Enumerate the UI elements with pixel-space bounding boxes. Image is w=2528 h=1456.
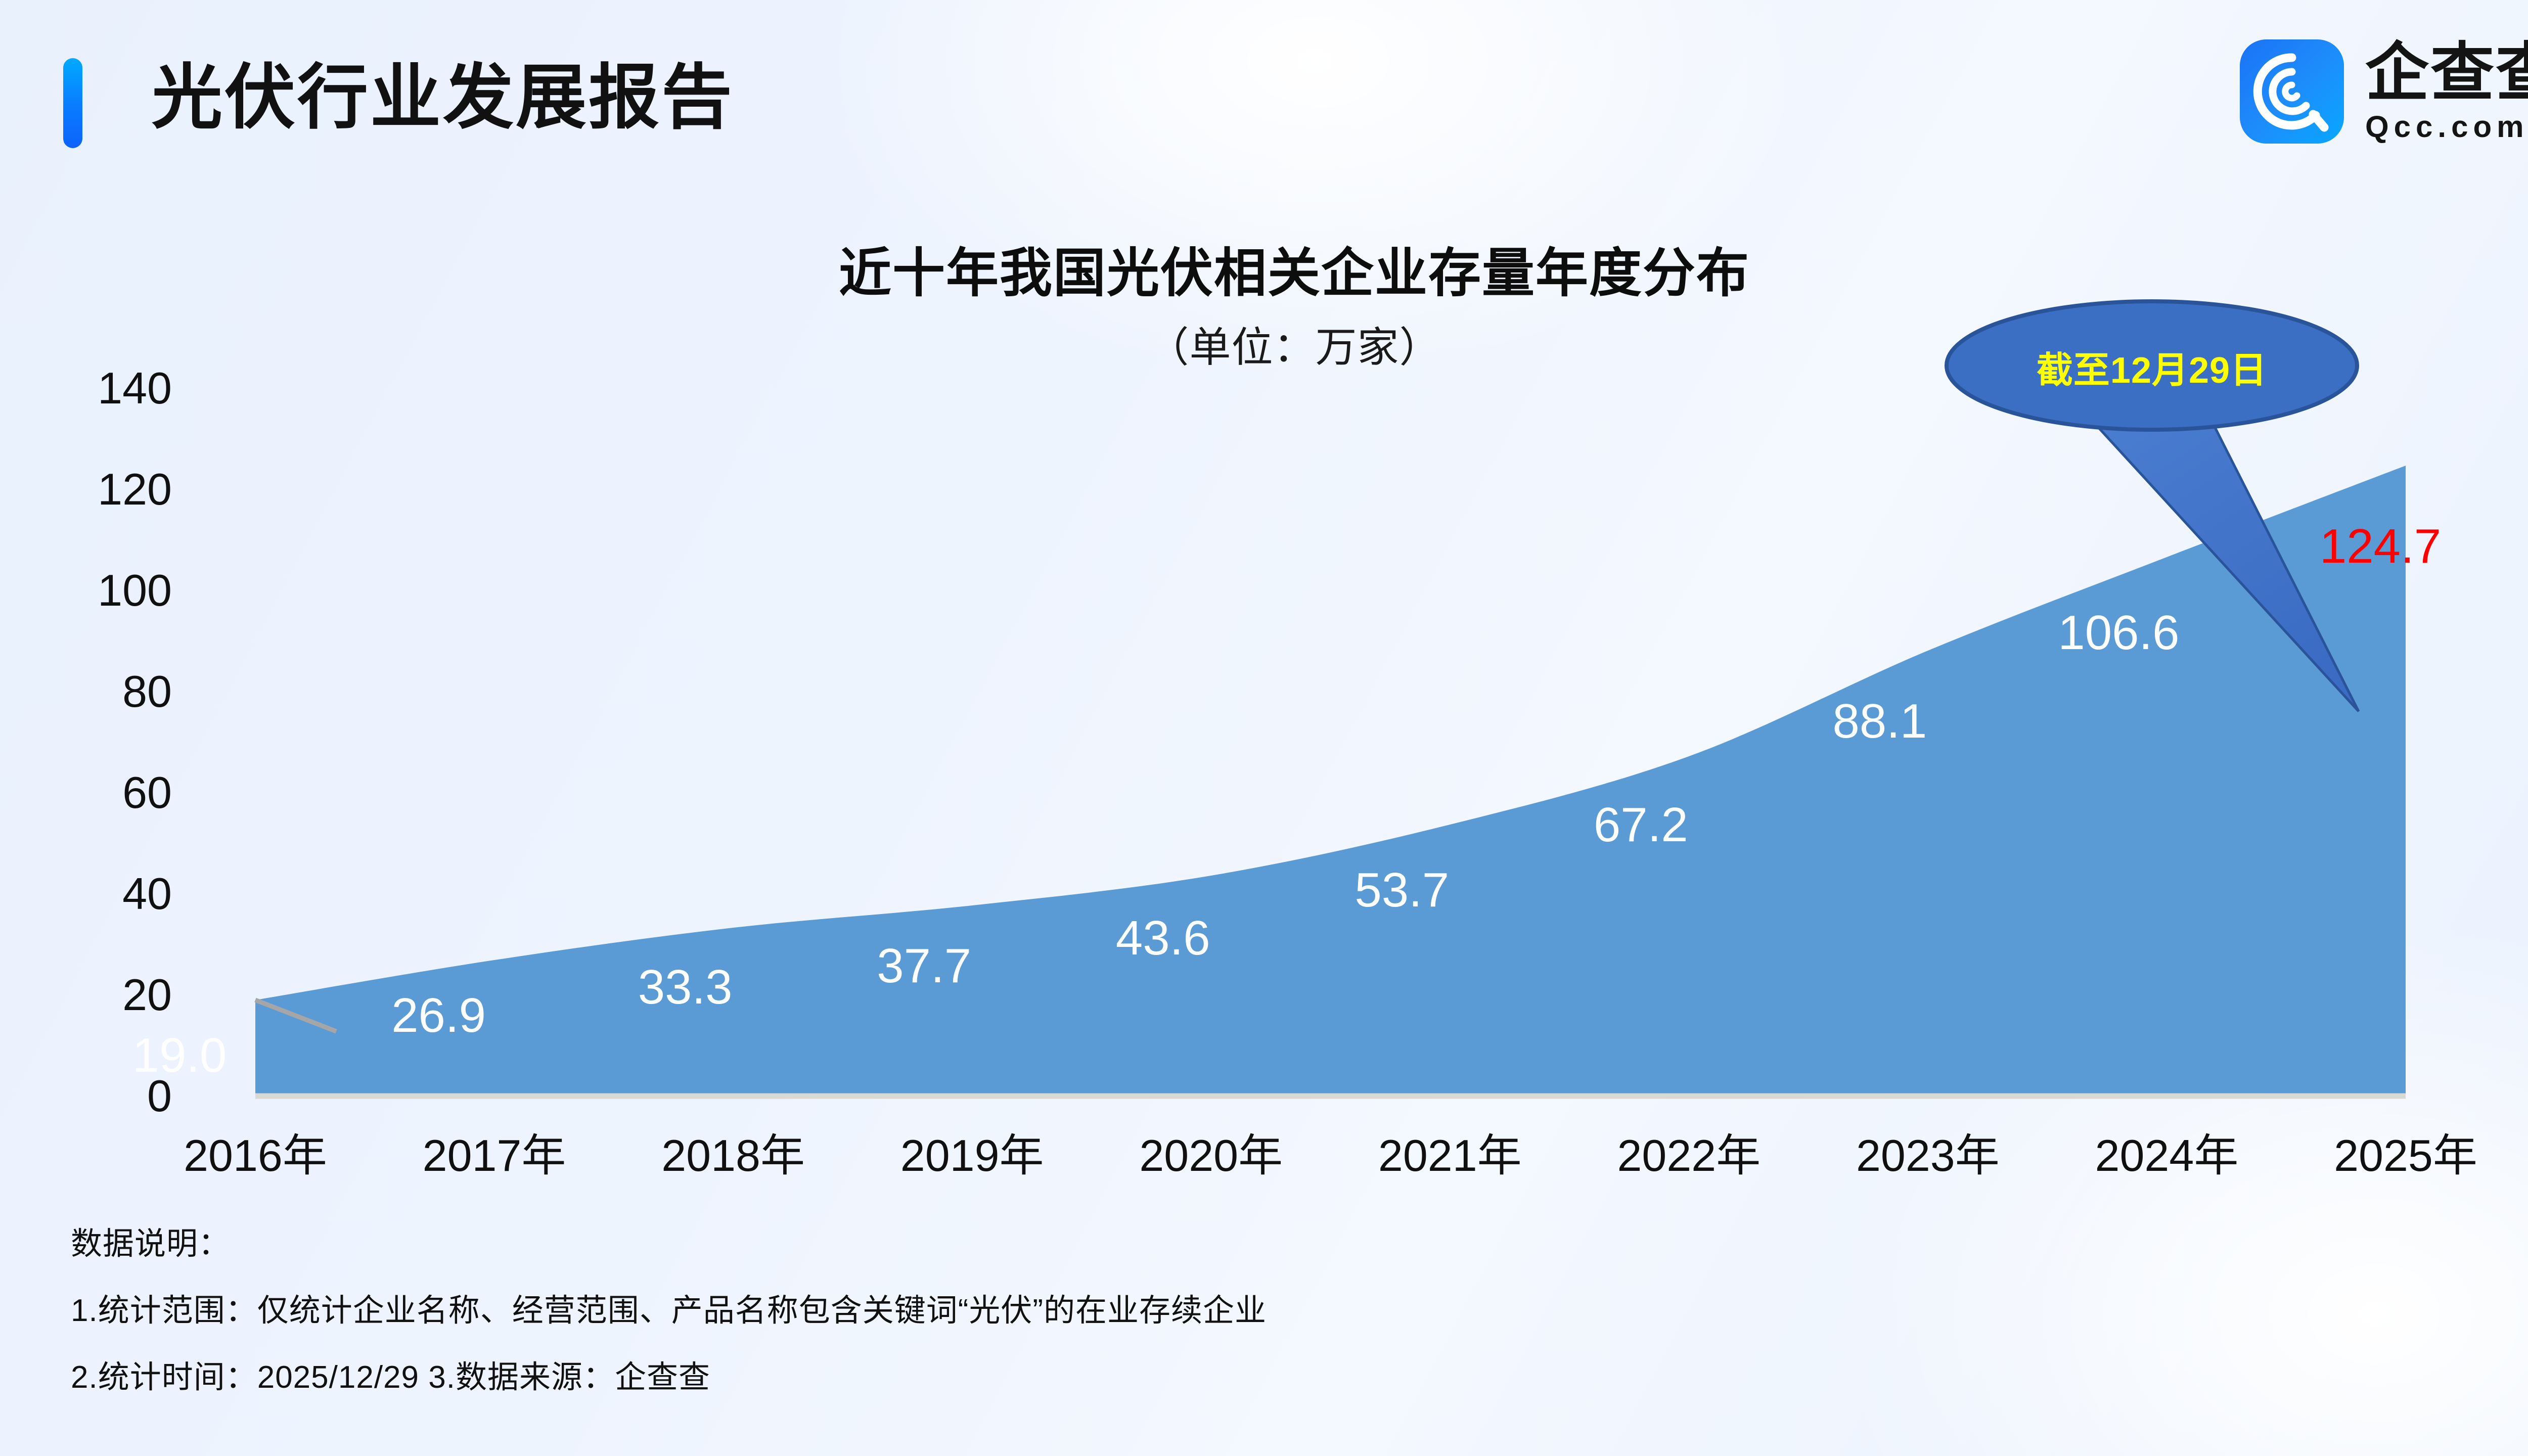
x-axis-tick-label: 2022年 xyxy=(1570,1120,1808,1184)
y-axis-tick-label: 80 xyxy=(20,666,172,717)
y-axis-tick-label: 140 xyxy=(20,362,172,414)
data-point-label: 37.7 xyxy=(805,938,1043,994)
data-point-label: 53.7 xyxy=(1283,862,1521,918)
data-point-label: 124.7 xyxy=(2262,519,2499,574)
data-point-label: 88.1 xyxy=(1761,694,1999,749)
callout-label: 截至12月29日 xyxy=(1947,340,2357,393)
data-notes: 数据说明： 1.统计范围：仅统计企业名称、经营范围、产品名称包含关键词“光伏”的… xyxy=(71,1228,2295,1429)
data-point-label: 43.6 xyxy=(1044,911,1282,966)
data-point-label: 33.3 xyxy=(566,960,804,1015)
data-point-label: 19.0 xyxy=(61,1028,298,1083)
data-point-label: 67.2 xyxy=(1522,797,1759,853)
note-item: 2.统计时间：2025/12/29 3.数据来源：企查查 xyxy=(71,1362,2295,1393)
x-axis-tick-label: 2025年 xyxy=(2287,1120,2524,1184)
x-axis-tick-label: 2023年 xyxy=(1809,1120,2047,1184)
y-axis-tick-label: 120 xyxy=(20,464,172,515)
report-canvas: 光伏行业发展报告 企查查 Qcc.com 近十年我国光伏相关企业存量年度分布 （… xyxy=(0,0,2528,1456)
notes-heading: 数据说明： xyxy=(71,1228,2295,1260)
y-axis-tick-label: 20 xyxy=(20,969,172,1021)
y-axis-tick-label: 100 xyxy=(20,565,172,616)
x-axis-tick-label: 2020年 xyxy=(1092,1120,1330,1184)
x-axis-tick-label: 2016年 xyxy=(137,1120,374,1184)
data-point-label: 26.9 xyxy=(320,988,558,1043)
x-axis-tick-label: 2017年 xyxy=(376,1120,613,1184)
x-axis-tick-label: 2024年 xyxy=(2048,1120,2285,1184)
data-point-label: 106.6 xyxy=(2000,605,2237,661)
y-axis-tick-label: 40 xyxy=(20,868,172,920)
x-axis-tick-label: 2021年 xyxy=(1331,1120,1569,1184)
note-item: 1.统计范围：仅统计企业名称、经营范围、产品名称包含关键词“光伏”的在业存续企业 xyxy=(71,1295,2295,1327)
y-axis-tick-label: 60 xyxy=(20,767,172,818)
x-axis-tick-label: 2018年 xyxy=(614,1120,852,1184)
x-axis-tick-label: 2019年 xyxy=(853,1120,1091,1184)
